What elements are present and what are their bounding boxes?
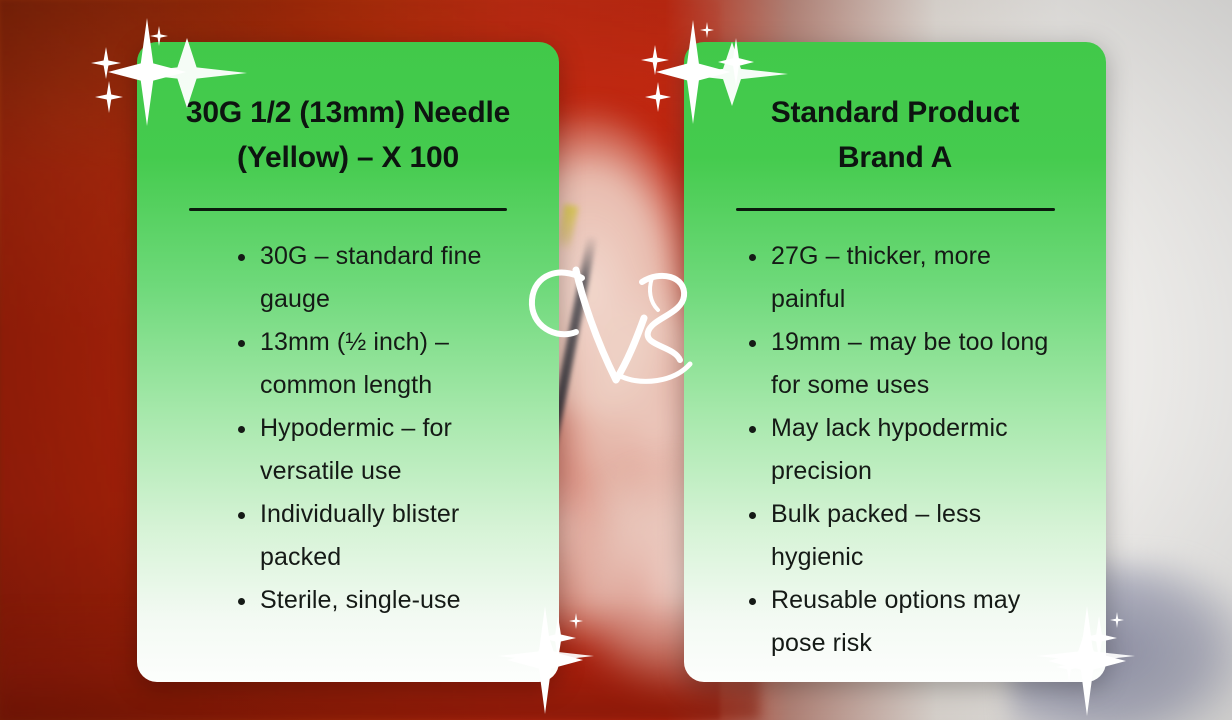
list-item: Individually blister packed [233, 493, 517, 579]
competitor-card-title-line1: Standard Product [720, 90, 1070, 135]
product-card-title-line1: 30G 1/2 (13mm) Needle [173, 90, 523, 135]
product-card[interactable]: 30G 1/2 (13mm) Needle (Yellow) – X 100 3… [137, 42, 559, 682]
list-item: 13mm (½ inch) – common length [233, 321, 517, 407]
list-item: 19mm – may be too long for some uses [744, 321, 1070, 407]
comparison-graphic: 30G 1/2 (13mm) Needle (Yellow) – X 100 3… [0, 0, 1232, 720]
list-item: 27G – thicker, more painful [744, 235, 1070, 321]
list-item: Hypodermic – for versatile use [233, 407, 517, 493]
competitor-card-title: Standard Product Brand A [720, 90, 1070, 180]
list-item: May lack hypodermic precision [744, 407, 1070, 493]
competitor-card[interactable]: Standard Product Brand A 27G – thicker, … [684, 42, 1106, 682]
competitor-card-bullet-list: 27G – thicker, more painful 19mm – may b… [744, 235, 1070, 665]
product-card-bullet-list: 30G – standard fine gauge 13mm (½ inch) … [233, 235, 517, 622]
list-item: 30G – standard fine gauge [233, 235, 517, 321]
list-item: Bulk packed – less hygienic [744, 493, 1070, 579]
competitor-card-divider [736, 208, 1055, 211]
product-card-title-line2: (Yellow) – X 100 [173, 135, 523, 180]
product-card-title: 30G 1/2 (13mm) Needle (Yellow) – X 100 [173, 90, 523, 180]
product-card-divider [189, 208, 507, 211]
competitor-card-title-line2: Brand A [720, 135, 1070, 180]
list-item: Sterile, single-use [233, 579, 517, 622]
list-item: Reusable options may pose risk [744, 579, 1070, 665]
